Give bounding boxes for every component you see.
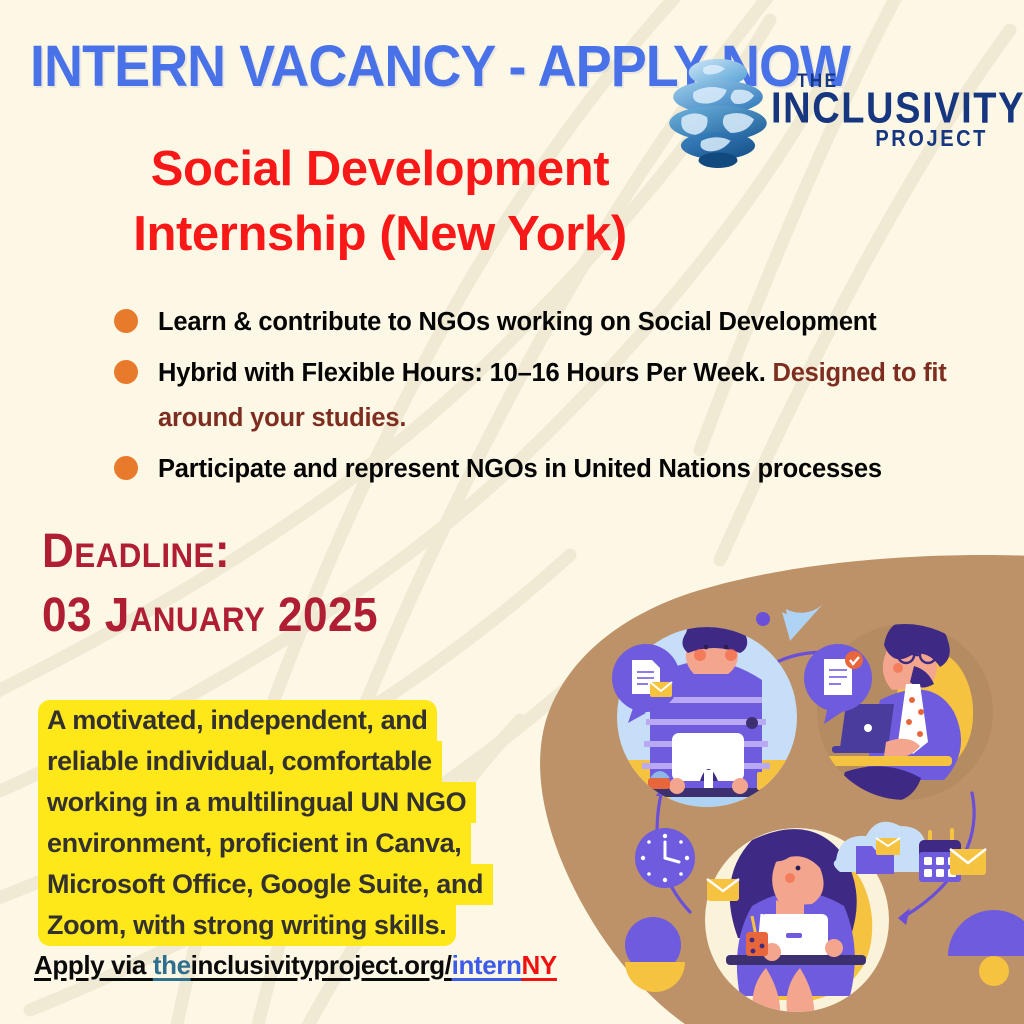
apply-prefix: Apply via [34,950,153,980]
list-item: Learn & contribute to NGOs working on So… [112,300,1002,345]
apply-link[interactable]: Apply via theinclusivityproject.org/inte… [34,950,557,981]
document-icon [632,660,660,694]
job-title: Social Development Internship (New York) [0,137,760,266]
highlight-line: Zoom, with strong writing skills. [38,905,456,946]
highlight-line: Microsoft Office, Google Suite, and [38,864,493,905]
highlight-line: working in a multilingual UN NGO [38,782,476,823]
list-item-plain: Participate and represent NGOs in United… [158,455,882,483]
apply-url-domain: inclusivityproject.org/ [191,950,452,980]
logo-word-project: PROJECT [875,126,988,152]
calendar-icon [919,830,961,882]
apply-url-ny: NY [521,950,556,980]
requirements-highlight-box: A motivated, independent, and reliable i… [38,700,558,946]
bullet-dot-icon [114,309,138,333]
deadline-label: Deadline: [42,520,378,584]
brown-blob [540,555,1024,1024]
highlight-line: environment, proficient in Canva, [38,823,471,864]
arrow-icon [775,652,865,663]
apply-url-intern: intern [452,950,522,980]
decor-balance-shape [625,917,685,992]
decor-dot [756,612,770,626]
list-item-plain: Hybrid with Flexible Hours: 10–16 Hours … [158,359,772,387]
decor-half-circle [782,605,822,640]
pencil-cup-icon [746,914,768,956]
list-item-text: Participate and represent NGOs in United… [158,447,1002,492]
illustration-figure-bottom [625,822,1024,1018]
deadline-block: Deadline: 03 January 2025 [42,520,378,648]
bullet-dot-icon [114,456,138,480]
bullet-list: Learn & contribute to NGOs working on So… [112,300,1002,498]
arrow-icon [905,793,974,916]
apply-url-the: the [153,950,191,980]
illustration-figure-left [612,611,797,840]
decor-dome-shape [948,910,1024,986]
brand-logo: THE INCLUSIVITY PROJECT [663,48,1003,173]
envelope-icon [950,849,986,875]
poster-root: INTERN VACANCY - APPLY NOW THE INCLUSIVI… [0,0,1024,1024]
job-title-line2: Internship (New York) [0,202,760,267]
globe-icon [663,53,773,168]
highlight-line: reliable individual, comfortable [38,741,442,782]
list-item: Hybrid with Flexible Hours: 10–16 Hours … [112,351,1002,441]
arrow-icon [657,790,690,912]
illustration-figure-right [804,619,993,803]
envelope-icon [707,879,739,901]
list-item-plain: Learn & contribute to NGOs working on So… [158,308,876,336]
list-item-text: Learn & contribute to NGOs working on So… [158,300,1002,345]
list-item: Participate and represent NGOs in United… [112,447,1002,492]
job-title-line1: Social Development [0,137,760,202]
highlight-line: A motivated, independent, and [38,700,437,741]
deadline-date: 03 January 2025 [42,584,378,648]
checklist-icon [824,651,863,695]
bullet-dot-icon [114,360,138,384]
envelope-icon [650,682,672,697]
cloud-folder-icon [834,822,937,874]
clock-icon [635,828,695,888]
list-item-text: Hybrid with Flexible Hours: 10–16 Hours … [158,351,1002,441]
